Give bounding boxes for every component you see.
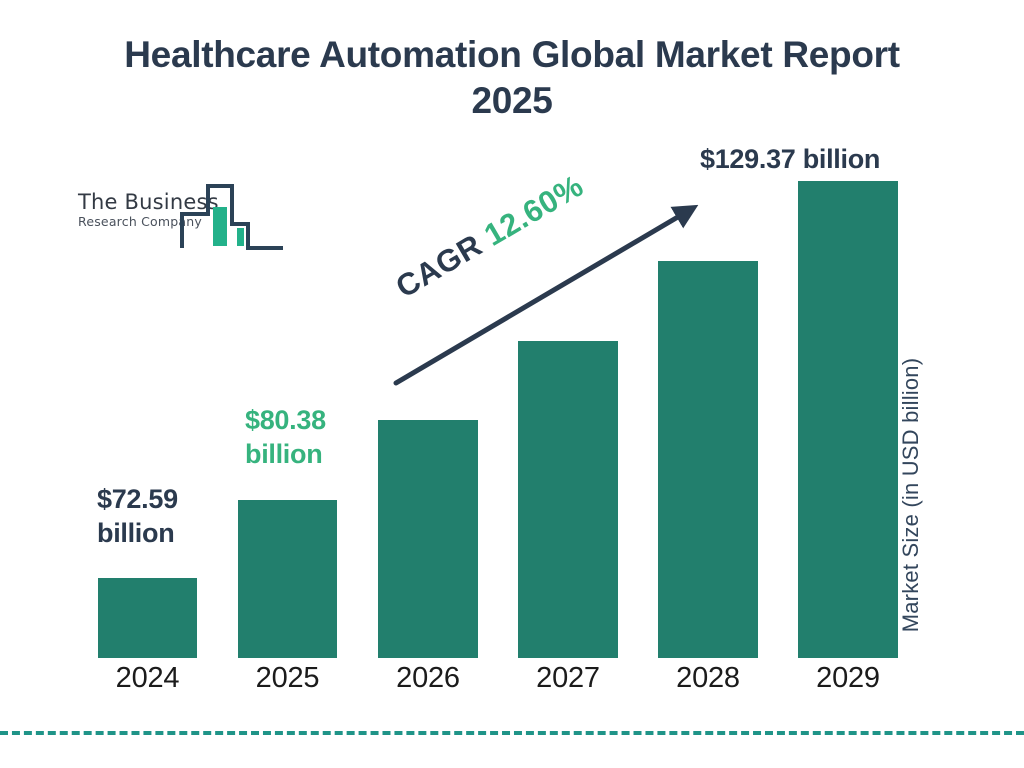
xtick-2028: 2028 (658, 662, 758, 695)
footer-divider (0, 731, 1024, 735)
bar-2029 (798, 181, 898, 658)
value-label-2029: $129.37 billion (700, 142, 940, 176)
bar-2024 (98, 578, 197, 658)
value-label-2024: $72.59 billion (97, 482, 227, 550)
xtick-2026: 2026 (378, 662, 478, 695)
bar-2025 (238, 500, 337, 658)
xtick-2024: 2024 (98, 662, 197, 695)
y-axis-title-text: Market Size (in USD billion) (898, 330, 924, 660)
value-label-2025: $80.38 billion (245, 403, 375, 471)
xtick-2027: 2027 (518, 662, 618, 695)
chart-page: Healthcare Automation Global Market Repo… (0, 0, 1024, 768)
xtick-2025: 2025 (238, 662, 337, 695)
xtick-2029: 2029 (798, 662, 898, 695)
bar-2026 (378, 420, 478, 658)
